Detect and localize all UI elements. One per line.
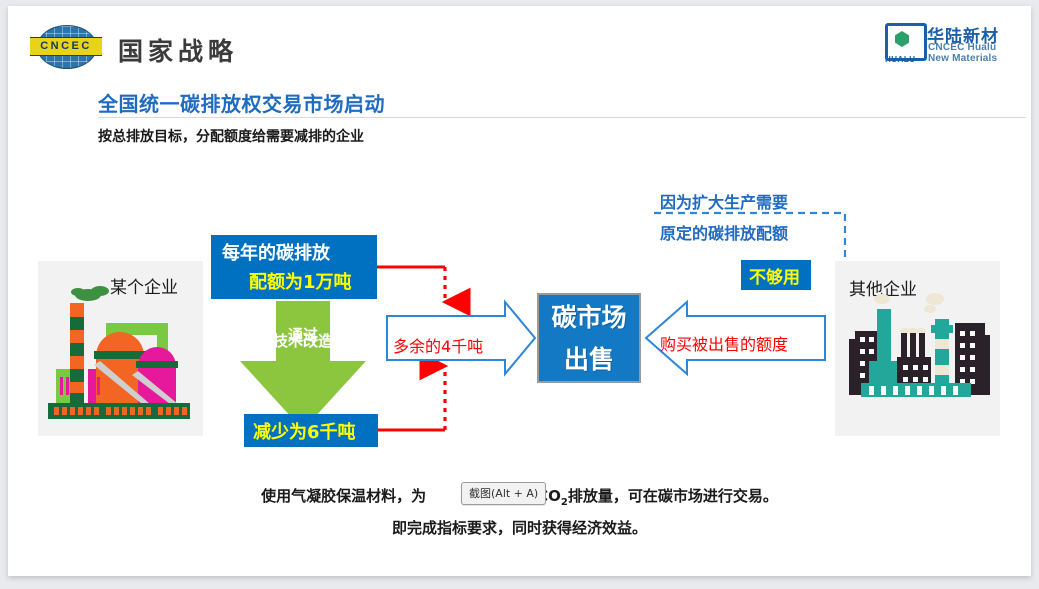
box-annual-quota: 每年的碳排放 配额为1万吨 [211, 235, 377, 299]
bottom-line1-part-a: 使用气凝胶保温材料，为 [261, 487, 426, 505]
hualu-logo-en-line1: CNCEC Hualu [928, 42, 996, 53]
bottom-line1-part-c: 排放量，可在碳市场进行交易。 [568, 487, 778, 505]
box-insufficient: 不够用 [741, 260, 811, 290]
label-purchase: 购买被出售的额度 [660, 331, 788, 355]
factory-card-left: 某个企业 [38, 261, 203, 436]
box-insufficient-text: 不够用 [749, 263, 800, 288]
hualu-logo: HUALU 华陆新材 CNCEC Hualu New Materials [885, 22, 1013, 66]
annotation-original-quota: 原定的碳排放配额 [660, 220, 788, 244]
bottom-line1-subscript: 2 [561, 497, 568, 508]
box-carbon-market: 碳市场 出售 [537, 293, 641, 383]
market-line2: 出售 [539, 339, 639, 381]
box-annual-line2: 配额为1万吨 [249, 268, 352, 294]
screenshot-tooltip-button[interactable]: 截图(Alt + A) [461, 482, 546, 505]
market-line1: 碳市场 [539, 297, 639, 339]
bottom-text-line2: 即完成指标要求，同时获得经济效益。 [8, 517, 1031, 538]
hualu-logo-en-line2: New Materials [928, 53, 997, 64]
slide-canvas: CNCEC 国家战略 HUALU 华陆新材 CNCEC Hualu New Ma… [8, 6, 1031, 576]
brand-title: 国家战略 [118, 32, 238, 68]
factory-card-right: 其他企业 [835, 261, 1000, 436]
factory-illustration-left [38, 261, 203, 436]
title-divider [98, 117, 1026, 118]
page-title: 全国统一碳排放权交易市场启动 [98, 88, 385, 117]
box-reduced-text: 减少为6千吨 [253, 418, 356, 444]
box-annual-line1: 每年的碳排放 [222, 239, 330, 265]
box-reduced-emission: 减少为6千吨 [244, 414, 378, 447]
hualu-mark-text: HUALU [885, 55, 916, 64]
green-arrow-line2: 技术改造 [240, 330, 366, 351]
cncec-logo: CNCEC [30, 23, 102, 69]
label-surplus: 多余的4千吨 [393, 333, 483, 357]
factory-illustration-right [835, 261, 1000, 436]
annotation-expand-production: 因为扩大生产需要 [660, 189, 788, 213]
cncec-logo-text: CNCEC [30, 37, 102, 56]
page-subtitle: 按总排放目标，分配额度给需要减排的企业 [98, 126, 364, 146]
